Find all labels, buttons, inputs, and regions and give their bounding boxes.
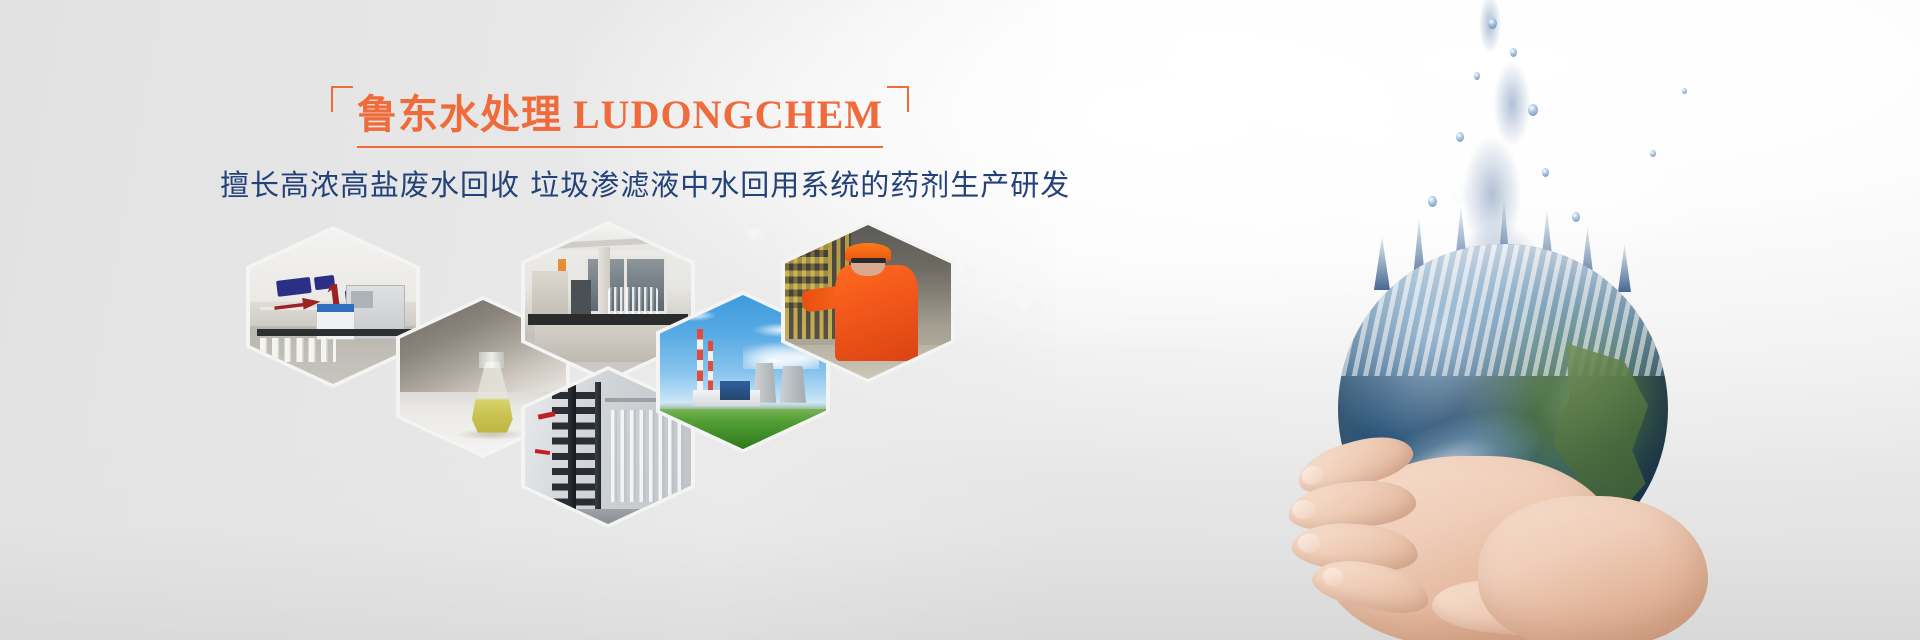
water-droplet-icon [1510, 48, 1517, 57]
water-droplet-icon [1488, 18, 1497, 29]
water-droplet-icon [1428, 196, 1437, 207]
water-droplet-icon [1542, 168, 1549, 177]
side-cabinet [532, 271, 569, 314]
vertical-pipe [595, 382, 601, 518]
water-droplet-icon [1456, 132, 1464, 142]
water-droplet-icon [1650, 150, 1656, 157]
water-globe-artwork [1242, 0, 1862, 640]
globe-water-surface [1338, 244, 1668, 376]
cooling-tower [780, 366, 807, 403]
water-droplet-icon [1528, 104, 1538, 116]
flask-neck [479, 352, 504, 367]
palm [1478, 496, 1708, 640]
vertical-pipe [568, 376, 576, 518]
floor [525, 509, 691, 524]
dark-equipment [571, 280, 591, 314]
worker-coverall [835, 265, 918, 360]
lab-bench [257, 329, 413, 337]
water-droplet-icon [1682, 88, 1687, 94]
membrane-vessels [611, 410, 684, 502]
water-droplet-icon [1572, 212, 1580, 222]
hero-banner: 鲁东水处理 LUDONGCHEM 擅长高浓高盐废水回收 垃圾渗滤液中水回用系统的… [0, 0, 1920, 640]
hexagon-gallery [0, 0, 1060, 640]
safety-glasses-icon [851, 258, 886, 263]
plant-building-blue [720, 381, 750, 399]
glassware-array [608, 287, 658, 318]
cupped-hands [1282, 400, 1702, 640]
lab-bench [528, 314, 687, 325]
water-droplet-icon [1474, 72, 1480, 80]
